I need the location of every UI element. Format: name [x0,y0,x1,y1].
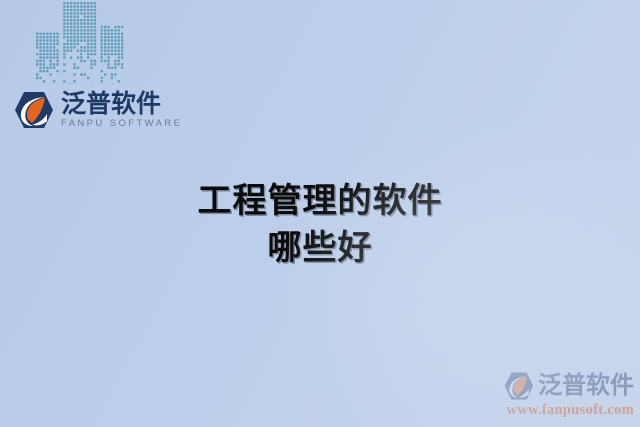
fanpu-hexagon-logo-icon [504,371,534,401]
page-title-line-2: 哪些好 [0,225,640,272]
watermark-name-cn: 泛普软件 [538,374,634,398]
brand-name-cn: 泛普软件 [61,92,182,118]
brand-logo: 泛普软件 FANPU SOFTWARE [14,90,182,130]
pixel-buildings-icon [36,2,140,84]
brand-name-en: FANPU SOFTWARE [61,119,182,129]
slide-canvas: 泛普软件 FANPU SOFTWARE 工程管理的软件 哪些好 泛普软件 www… [0,0,640,427]
page-title-line-1: 工程管理的软件 [0,178,640,225]
brand-text-block: 泛普软件 FANPU SOFTWARE [61,92,182,129]
watermark: 泛普软件 www.fanpusoft.com [504,371,634,418]
watermark-url: www.fanpusoft.com [504,403,634,418]
fanpu-hexagon-logo-icon [14,90,54,130]
watermark-logo-row: 泛普软件 [504,371,634,401]
page-title: 工程管理的软件 哪些好 [0,178,640,272]
